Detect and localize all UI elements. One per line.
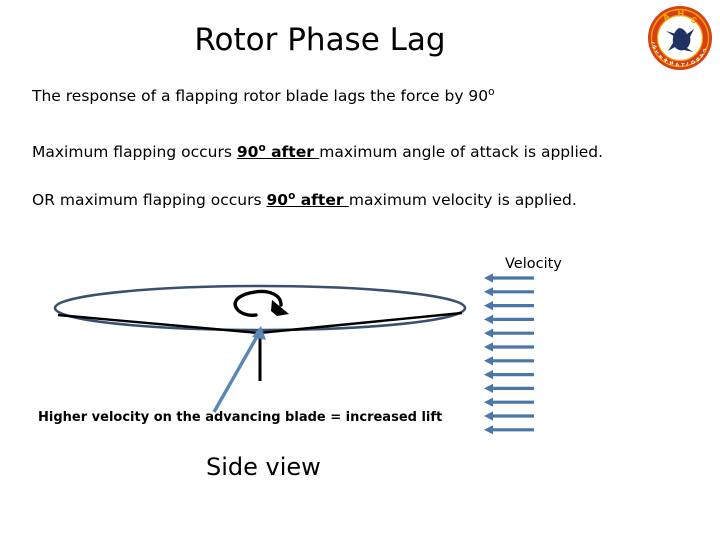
view-label: Side view bbox=[206, 453, 321, 481]
diagram-caption: Higher velocity on the advancing blade =… bbox=[38, 410, 442, 425]
velocity-arrow-head bbox=[484, 411, 493, 420]
velocity-arrow-head bbox=[484, 370, 493, 379]
velocity-arrow-head bbox=[484, 315, 493, 324]
velocity-arrow-head bbox=[484, 329, 493, 338]
velocity-arrow-head bbox=[484, 273, 493, 282]
rotor-side-view-diagram bbox=[0, 0, 720, 540]
velocity-arrow-head bbox=[484, 384, 493, 393]
velocity-arrow-group bbox=[484, 273, 534, 434]
velocity-arrow-head bbox=[484, 287, 493, 296]
velocity-label: Velocity bbox=[505, 256, 562, 272]
velocity-arrow-head bbox=[484, 425, 493, 434]
velocity-arrow-head bbox=[484, 301, 493, 310]
rotation-direction-arrow bbox=[235, 292, 289, 316]
velocity-arrow-head bbox=[484, 356, 493, 365]
advancing-blade-pointer-arrow bbox=[214, 326, 266, 412]
velocity-arrow-head bbox=[484, 398, 493, 407]
velocity-arrow-head bbox=[484, 342, 493, 351]
